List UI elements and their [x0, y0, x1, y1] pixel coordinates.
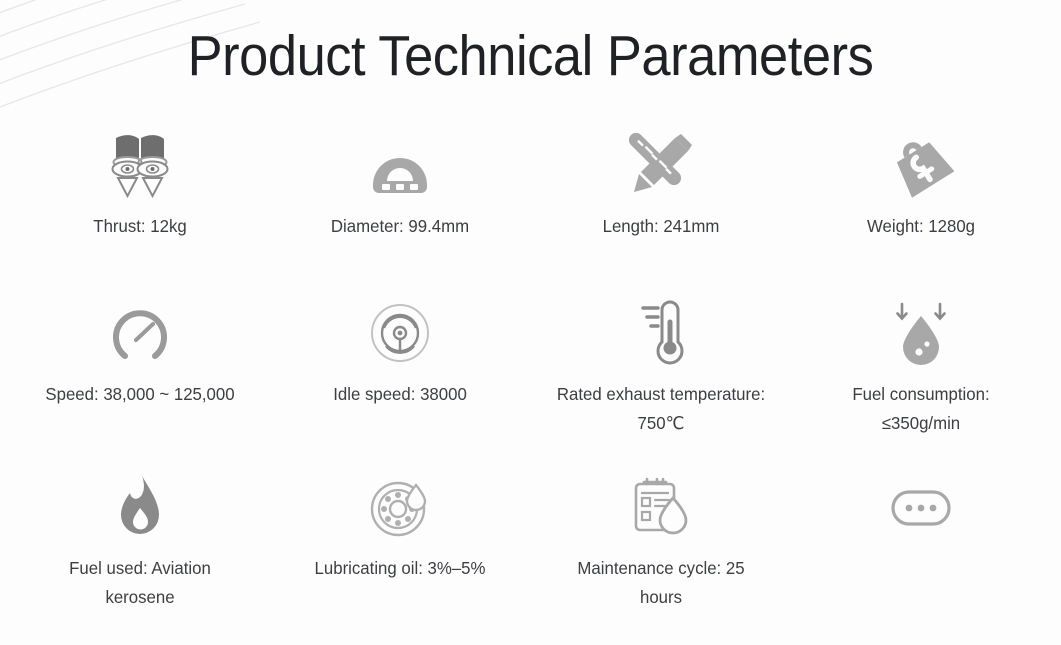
spec-label: Fuel consumption: ≤350g/min [806, 380, 1036, 438]
page-title: Product Technical Parameters [42, 18, 1018, 94]
spec-label-line: 750℃ [536, 409, 786, 438]
spec-label: Lubricating oil: 3%–5% [276, 554, 526, 583]
spec-label: Maintenance cycle: 25 hours [536, 554, 786, 612]
more-ellipsis-icon[interactable] [890, 470, 952, 544]
spec-label-line: Idle speed: 38000 [334, 384, 468, 404]
spec-label: Idle speed: 38000 [285, 380, 515, 409]
spec-label-line: Speed: 38,000 ~ 125,000 [46, 384, 235, 404]
diameter-dome-icon [365, 128, 435, 202]
spec-label: Fuel used: Aviation kerosene [25, 554, 255, 612]
spec-label-line: Fuel consumption: [806, 380, 1036, 409]
twin-jet-engines-icon [106, 128, 174, 202]
spec-label: Rated exhaust temperature: 750℃ [536, 380, 786, 438]
spec-label: Diameter: 99.4mm [285, 212, 515, 241]
spec-label: Thrust: 12kg [25, 212, 255, 241]
spec-label: Weight: 1280g [806, 212, 1036, 241]
spec-label-line: Maintenance cycle: 25 [536, 554, 786, 583]
spec-item-more[interactable] [791, 470, 1051, 638]
spec-label-line: hours [536, 583, 786, 612]
spec-item-speed: Speed: 38,000 ~ 125,000 [10, 296, 270, 470]
spec-label-line: Lubricating oil: 3%–5% [315, 558, 486, 578]
steering-wheel-icon [369, 296, 431, 370]
spec-label-line: Thrust: 12kg [93, 216, 186, 236]
flame-icon [111, 470, 169, 544]
clipboard-droplet-icon [630, 470, 692, 544]
spec-label-line: Length: 241mm [602, 216, 719, 236]
spec-label-line: Fuel used: Aviation [25, 554, 255, 583]
specs-grid: Thrust: 12kg Diameter: 99.4mm [10, 128, 1051, 638]
spec-item-length: Length: 241mm [531, 128, 791, 296]
speedometer-icon [109, 296, 171, 370]
spec-item-fuel-consumption: Fuel consumption: ≤350g/min [791, 296, 1051, 470]
spec-label-line: Weight: 1280g [867, 216, 975, 236]
spec-label: Length: 241mm [545, 212, 775, 241]
spec-item-exhaust-temperature: Rated exhaust temperature: 750℃ [531, 296, 791, 470]
thermometer-icon [631, 296, 691, 370]
pencil-ruler-icon [628, 128, 694, 202]
spec-label: Speed: 38,000 ~ 125,000 [15, 380, 265, 409]
spec-item-thrust: Thrust: 12kg [10, 128, 270, 296]
product-parameters-page: Product Technical Parameters [0, 0, 1061, 645]
spec-label-line: Diameter: 99.4mm [331, 216, 469, 236]
spec-item-diameter: Diameter: 99.4mm [270, 128, 530, 296]
spec-label-line: ≤350g/min [806, 409, 1036, 438]
bearing-oil-icon [369, 470, 431, 544]
spec-item-lubricating-oil: Lubricating oil: 3%–5% [270, 470, 530, 638]
spec-item-idle-speed: Idle speed: 38000 [270, 296, 530, 470]
spec-item-weight: Weight: 1280g [791, 128, 1051, 296]
spec-label-line: kerosene [25, 583, 255, 612]
spec-label-line: Rated exhaust temperature: [536, 380, 786, 409]
spec-item-maintenance-cycle: Maintenance cycle: 25 hours [531, 470, 791, 638]
weight-block-icon [888, 128, 954, 202]
fuel-droplet-arrows-icon [888, 296, 954, 370]
spec-item-fuel-used: Fuel used: Aviation kerosene [10, 470, 270, 638]
